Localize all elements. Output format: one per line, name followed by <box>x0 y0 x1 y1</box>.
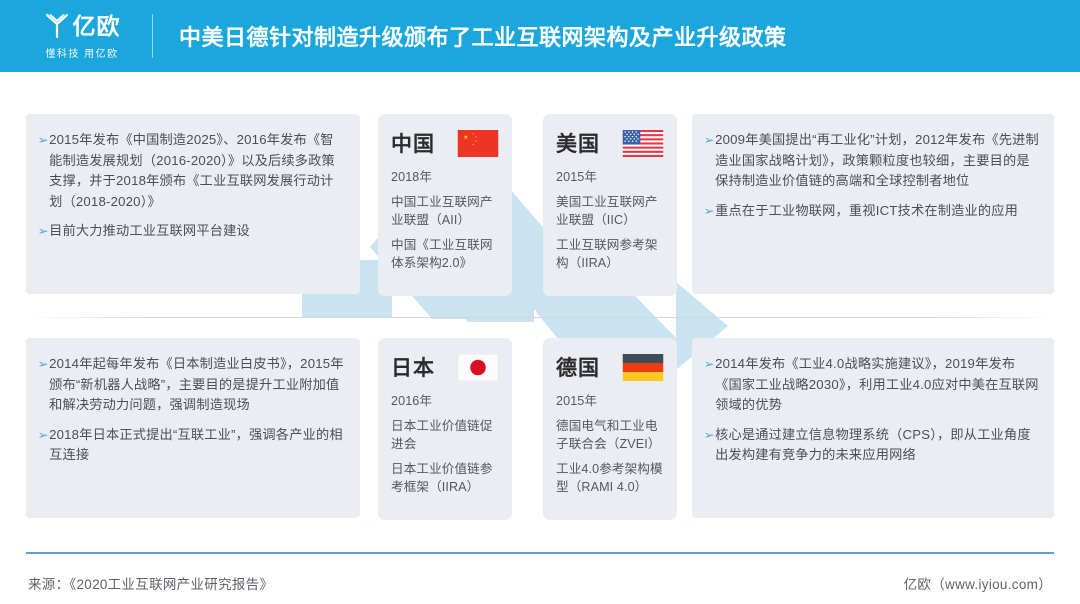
country-name: 日本 <box>391 352 435 382</box>
country-name: 德国 <box>556 352 600 382</box>
card-year: 2015年 <box>556 392 664 410</box>
bullet-arrow-icon: ➢ <box>703 130 714 150</box>
card-header: 美国 <box>556 126 664 160</box>
bullet-arrow-icon: ➢ <box>37 425 48 445</box>
bullet-item: ➢ 2014年起每年发布《日本制造业白皮书》，2015年颁布“新机器人战略”，主… <box>38 354 346 416</box>
panel-china-policy: ➢ 2015年发布《中国制造2025》、2016年发布《智能制造发展规划（201… <box>26 114 360 294</box>
panel-germany-policy: ➢ 2014年发布《工业4.0战略实施建议》，2019年发布《国家工业战略203… <box>692 338 1054 518</box>
bullet-arrow-icon: ➢ <box>37 130 48 150</box>
bullet-text: 目前大力推动工业互联网平台建设 <box>49 221 250 242</box>
card-framework: 工业4.0参考架构模型（RAMI 4.0） <box>556 460 664 496</box>
bullet-arrow-icon: ➢ <box>37 354 48 374</box>
card-header: 德国 <box>556 350 664 384</box>
brand-tagline: 懂科技 用亿欧 <box>45 45 118 60</box>
bullet-arrow-icon: ➢ <box>703 425 714 445</box>
panel-japan-policy: ➢ 2014年起每年发布《日本制造业白皮书》，2015年颁布“新机器人战略”，主… <box>26 338 360 518</box>
bullet-text: 重点在于工业物联网，重视ICT技术在制造业的应用 <box>715 201 1018 222</box>
card-organization: 德国电气和工业电子联合会（ZVEI） <box>556 417 664 453</box>
card-year: 2015年 <box>556 168 664 186</box>
page-header: 亿欧 懂科技 用亿欧 中美日德针对制造升级颁布了工业互联网架构及产业升级政策 <box>0 0 1080 72</box>
country-card-china: 中国 2018年 中国工业互联网产业联盟（AII） 中国《工业互联网体系架构2.… <box>378 114 512 296</box>
country-name: 美国 <box>556 128 600 158</box>
card-framework: 日本工业价值链参考框架（IIRA） <box>391 460 499 496</box>
brand-logo: 亿欧 懂科技 用亿欧 <box>22 12 142 60</box>
china-flag-icon <box>457 130 499 157</box>
country-card-japan: 日本 2016年 日本工业价值链促进会 日本工业价值链参考框架（IIRA） <box>378 338 512 520</box>
header-divider <box>152 14 153 58</box>
bullet-item: ➢ 核心是通过建立信息物理系统（CPS），即从工业角度出发构建有竞争力的未来应用… <box>704 425 1040 466</box>
card-framework: 中国《工业互联网体系架构2.0》 <box>391 236 499 272</box>
bullet-text: 2014年发布《工业4.0战略实施建议》，2019年发布《国家工业战略2030》… <box>715 354 1040 416</box>
card-organization: 日本工业价值链促进会 <box>391 417 499 453</box>
bullet-arrow-icon: ➢ <box>703 201 714 221</box>
page-title: 中美日德针对制造升级颁布了工业互联网架构及产业升级政策 <box>179 20 787 52</box>
bullet-arrow-icon: ➢ <box>703 354 714 374</box>
japan-flag-icon <box>457 354 499 381</box>
bullet-arrow-icon: ➢ <box>37 221 48 241</box>
page-footer: 来源：《2020工业互联网产业研究报告》 亿欧（www.iyiou.com） <box>0 562 1080 604</box>
card-header: 日本 <box>391 350 499 384</box>
germany-flag-icon <box>622 354 664 381</box>
bullet-text: 2014年起每年发布《日本制造业白皮书》，2015年颁布“新机器人战略”，主要目… <box>49 354 346 416</box>
bullet-item: ➢ 2015年发布《中国制造2025》、2016年发布《智能制造发展规划（201… <box>38 130 346 212</box>
bullet-item: ➢ 重点在于工业物联网，重视ICT技术在制造业的应用 <box>704 201 1040 222</box>
card-organization: 美国工业互联网产业联盟（IIC） <box>556 193 664 229</box>
bullet-text: 2009年美国提出“再工业化”计划，2012年发布《先进制造业国家战略计划》，政… <box>715 130 1040 192</box>
card-organization: 中国工业互联网产业联盟（AII） <box>391 193 499 229</box>
footer-divider <box>26 552 1054 554</box>
row-divider <box>26 317 1054 318</box>
bullet-item: ➢ 2009年美国提出“再工业化”计划，2012年发布《先进制造业国家战略计划》… <box>704 130 1040 192</box>
bullet-text: 核心是通过建立信息物理系统（CPS），即从工业角度出发构建有竞争力的未来应用网络 <box>715 425 1040 466</box>
card-year: 2018年 <box>391 168 499 186</box>
country-card-germany: 德国 2015年 德国电气和工业电子联合会（ZVEI） 工业4.0参考架构模型（… <box>543 338 677 520</box>
card-framework: 工业互联网参考架构（IIRA） <box>556 236 664 272</box>
bullet-item: ➢ 目前大力推动工业互联网平台建设 <box>38 221 346 242</box>
footer-brand: 亿欧（www.iyiou.com） <box>904 573 1052 593</box>
bullet-text: 2018年日本正式提出“互联工业”，强调各产业的相互连接 <box>49 425 346 466</box>
bullet-item: ➢ 2014年发布《工业4.0战略实施建议》，2019年发布《国家工业战略203… <box>704 354 1040 416</box>
bullet-item: ➢ 2018年日本正式提出“互联工业”，强调各产业的相互连接 <box>38 425 346 466</box>
yiou-logo-icon <box>44 12 70 40</box>
card-header: 中国 <box>391 126 499 160</box>
brand-logo-row: 亿欧 <box>44 12 121 40</box>
infographic-stage: ➢ 2015年发布《中国制造2025》、2016年发布《智能制造发展规划（201… <box>0 72 1080 532</box>
panel-usa-policy: ➢ 2009年美国提出“再工业化”计划，2012年发布《先进制造业国家战略计划》… <box>692 114 1054 294</box>
brand-logo-text: 亿欧 <box>73 15 121 38</box>
card-year: 2016年 <box>391 392 499 410</box>
footer-source: 来源：《2020工业互联网产业研究报告》 <box>28 573 273 593</box>
usa-flag-icon <box>622 130 664 157</box>
country-name: 中国 <box>391 128 435 158</box>
country-card-usa: 美国 <box>543 114 677 296</box>
bullet-text: 2015年发布《中国制造2025》、2016年发布《智能制造发展规划（2016-… <box>49 130 346 212</box>
